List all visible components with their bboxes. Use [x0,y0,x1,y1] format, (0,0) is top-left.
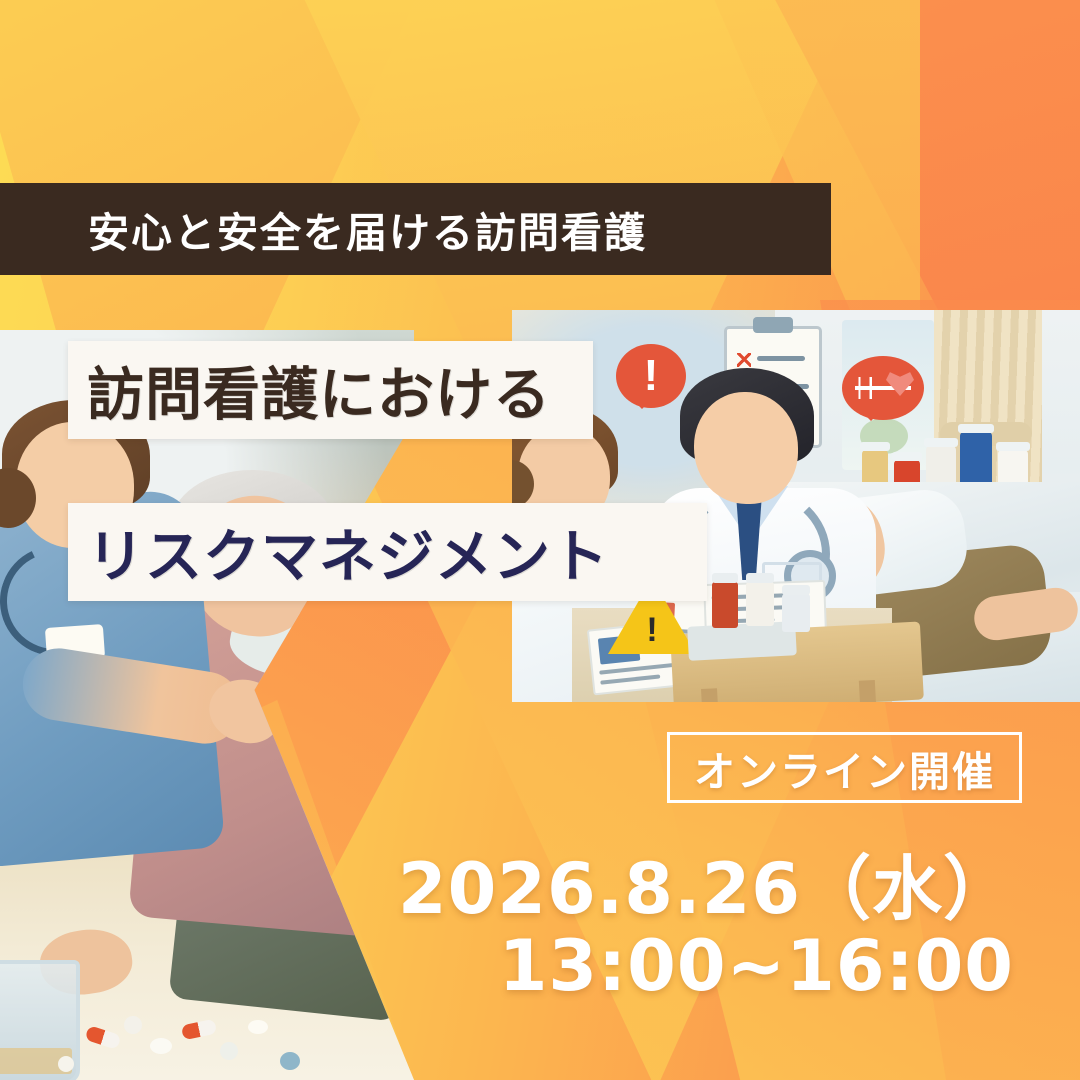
clipboard-clip [753,317,793,333]
event-time: 13:00~16:00 [499,925,1014,1007]
kicker-text: 安心と安全を届ける訪問看護 [88,199,647,259]
medicine-vial [746,582,774,626]
spilled-pill [124,1016,142,1034]
pill-blister-tray [687,621,797,661]
spilled-pill [280,1052,300,1070]
checkmark-icon [737,353,751,367]
spilled-pill [220,1042,238,1060]
vial-cap [712,573,738,583]
poster-canvas: ! [0,0,1080,1080]
spilled-pill [248,1020,268,1034]
title-line-1-box: 訪問看護における [68,341,593,439]
jar-lid [996,442,1030,451]
document-line [599,663,677,675]
doctor-head [694,392,798,504]
title-line-1-text: 訪問看護における [68,349,551,431]
jar-lid [924,438,958,447]
event-date: 2026.8.26（水） [398,833,1014,934]
online-badge-text: オンライン開催 [694,738,995,798]
vial-cap [782,585,810,595]
exclamation-glyph: ! [644,351,659,401]
kicker-banner: 安心と安全を届ける訪問看護 [0,183,831,275]
title-line-2-text: リスクマネジメント [68,511,609,593]
checklist-line [757,356,805,361]
jar-lid [958,424,994,433]
heartbeat-speech-bubble-icon [842,356,924,420]
warning-exclamation-glyph: ! [646,611,657,650]
jar-lid [860,442,890,451]
document-line [600,674,660,684]
vial-cap [746,573,774,583]
jar-lid [892,452,922,461]
medicine-vial [712,582,738,628]
online-event-badge: オンライン開催 [667,732,1022,803]
spilled-pill [58,1056,74,1072]
title-line-2-box: リスクマネジメント [68,503,707,601]
spilled-pill [150,1038,172,1054]
alert-speech-bubble-icon: ! [616,344,686,408]
medicine-vial [782,594,810,632]
